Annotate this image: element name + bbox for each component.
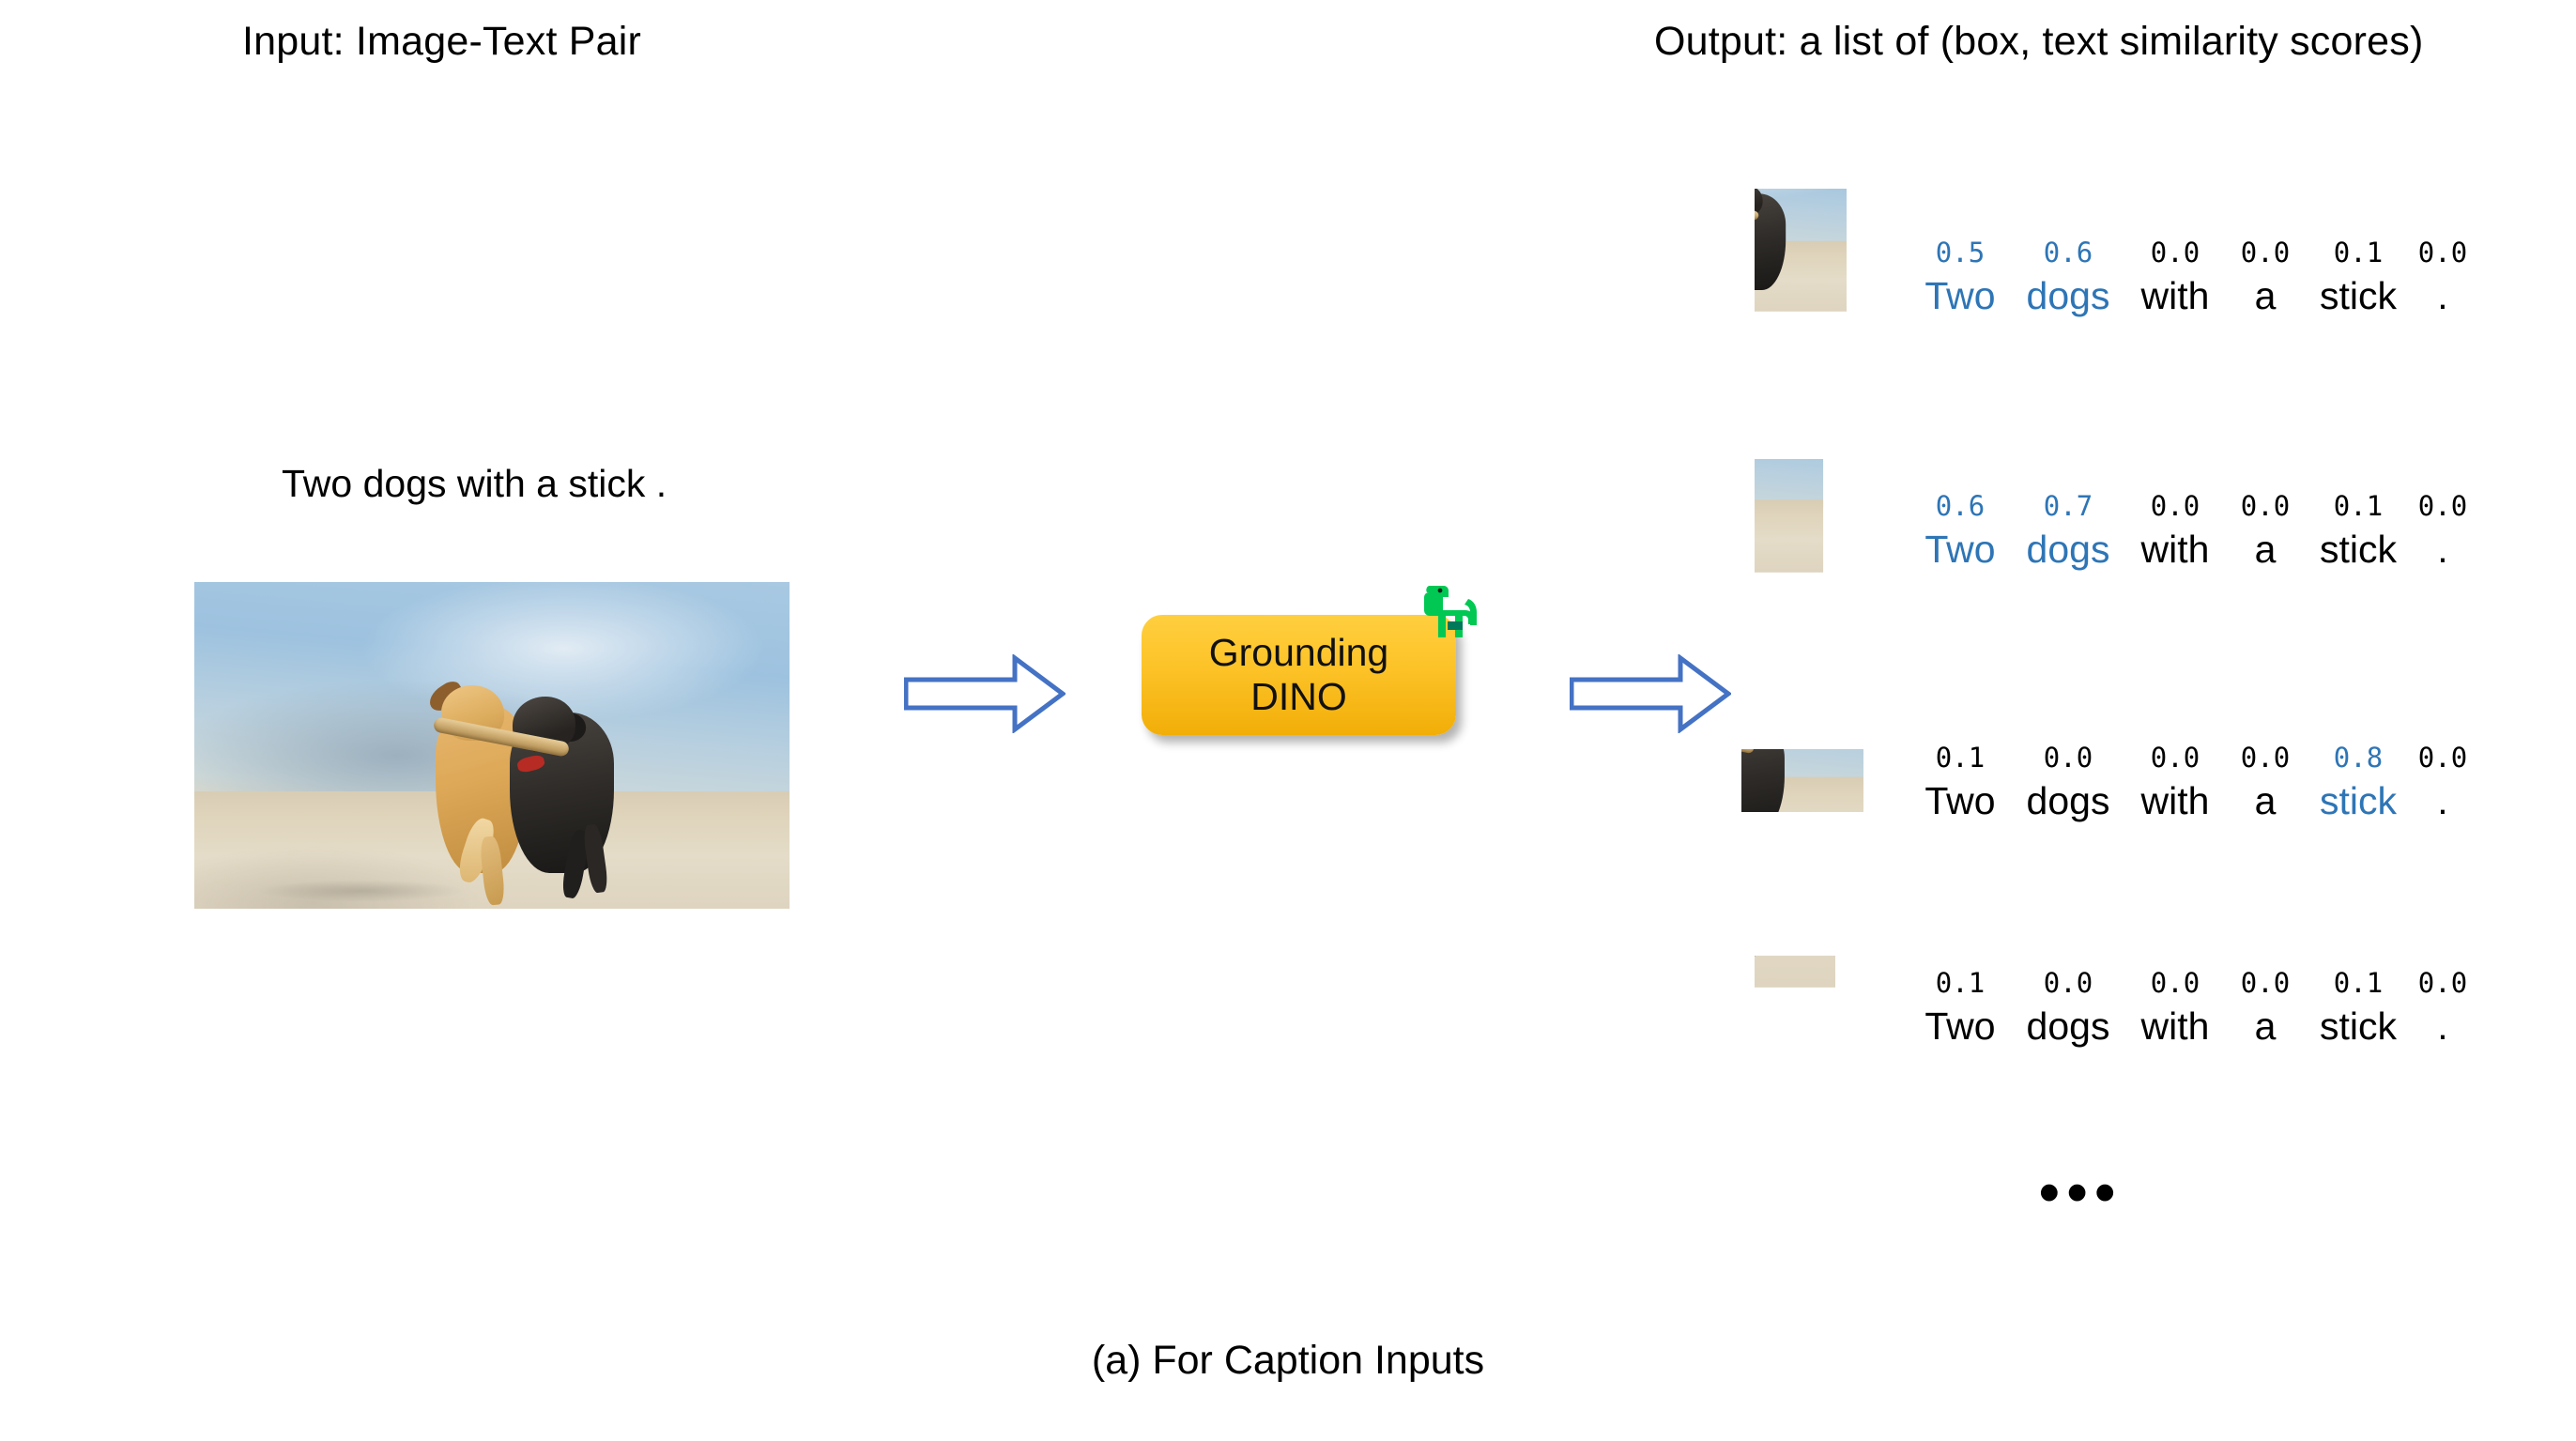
token-cell: stick (2304, 528, 2413, 572)
arrow-model-to-output-icon (1570, 654, 1731, 733)
token-cell: . (2413, 274, 2473, 318)
similarity-scores: 0.10.00.00.00.10.0 (1908, 967, 2473, 999)
token-cell: stick (2304, 274, 2413, 318)
score-cell: 0.0 (2227, 237, 2304, 268)
token-sequence: Twodogswithastick. (1908, 1004, 2473, 1049)
similarity-scores: 0.50.60.00.00.10.0 (1908, 237, 2473, 268)
dinosaur-icon (1419, 580, 1483, 638)
input-image (194, 582, 790, 909)
token-cell: with (2124, 274, 2227, 318)
crop-dog-legs (1755, 956, 1835, 988)
score-cell: 0.0 (2227, 490, 2304, 522)
token-sequence: Twodogswithastick. (1908, 274, 2473, 318)
token-cell: with (2124, 1004, 2227, 1049)
box-crop-thumbnail (1755, 956, 1835, 1073)
token-cell: stick (2304, 1004, 2413, 1049)
score-cell: 0.0 (2124, 742, 2227, 774)
token-cell: with (2124, 779, 2227, 823)
token-cell: dogs (2013, 779, 2124, 823)
figure-caption: (a) For Caption Inputs (0, 1338, 2576, 1384)
token-cell: dogs (2013, 528, 2124, 572)
score-cell: 0.5 (1908, 237, 2013, 268)
token-cell: . (2413, 1004, 2473, 1049)
similarity-scores: 0.10.00.00.00.80.0 (1908, 742, 2473, 774)
input-heading: Input: Image-Text Pair (242, 19, 641, 65)
score-cell: 0.6 (2013, 237, 2124, 268)
score-cell: 0.1 (2304, 490, 2413, 522)
token-cell: a (2227, 274, 2304, 318)
token-cell: . (2413, 779, 2473, 823)
ground-shadow (218, 876, 503, 905)
score-cell: 0.0 (2413, 967, 2473, 999)
token-cell: stick (2304, 779, 2413, 823)
model-name-line2: DINO (1250, 675, 1347, 719)
score-cell: 0.0 (2413, 742, 2473, 774)
score-cell: 0.1 (1908, 742, 2013, 774)
token-cell: a (2227, 528, 2304, 572)
grounding-dino-box[interactable]: Grounding DINO (1142, 615, 1456, 735)
token-sequence: Twodogswithastick. (1908, 779, 2473, 823)
token-cell: Two (1908, 274, 2013, 318)
score-cell: 0.1 (2304, 237, 2413, 268)
token-cell: Two (1908, 1004, 2013, 1049)
score-cell: 0.8 (2304, 742, 2413, 774)
score-cell: 0.0 (2227, 742, 2304, 774)
crop-stick (1741, 749, 1863, 812)
output-heading: Output: a list of (box, text similarity … (1654, 19, 2423, 65)
token-cell: Two (1908, 779, 2013, 823)
score-cell: 0.0 (2124, 967, 2227, 999)
score-cell: 0.7 (2013, 490, 2124, 522)
score-cell: 0.0 (2227, 967, 2304, 999)
arrow-input-to-model-icon (904, 654, 1066, 733)
token-sequence: Twodogswithastick. (1908, 528, 2473, 572)
token-cell: a (2227, 1004, 2304, 1049)
crop-black-dog (1755, 459, 1823, 573)
score-cell: 0.0 (2413, 237, 2473, 268)
score-cell: 0.0 (2124, 490, 2227, 522)
similarity-scores: 0.60.70.00.00.10.0 (1908, 490, 2473, 522)
score-cell: 0.0 (2013, 967, 2124, 999)
score-cell: 0.1 (2304, 967, 2413, 999)
score-cell: 0.6 (1908, 490, 2013, 522)
token-cell: dogs (2013, 274, 2124, 318)
token-cell: with (2124, 528, 2227, 572)
box-crop-thumbnail (1755, 459, 1865, 661)
token-cell: a (2227, 779, 2304, 823)
model-name-line1: Grounding (1209, 631, 1388, 675)
token-cell: Two (1908, 528, 2013, 572)
token-cell: . (2413, 528, 2473, 572)
score-cell: 0.0 (2124, 237, 2227, 268)
score-cell: 0.0 (2413, 490, 2473, 522)
beach-dogs-photo (194, 582, 790, 909)
score-cell: 0.0 (2013, 742, 2124, 774)
token-cell: dogs (2013, 1004, 2124, 1049)
box-crop-thumbnail (1755, 189, 1847, 409)
crop-tan-dog (1755, 189, 1847, 312)
score-cell: 0.1 (1908, 967, 2013, 999)
input-caption-text: Two dogs with a stick . (282, 462, 667, 506)
box-crop-thumbnail (1741, 749, 1863, 812)
ellipsis: ••• (2039, 1164, 2123, 1222)
